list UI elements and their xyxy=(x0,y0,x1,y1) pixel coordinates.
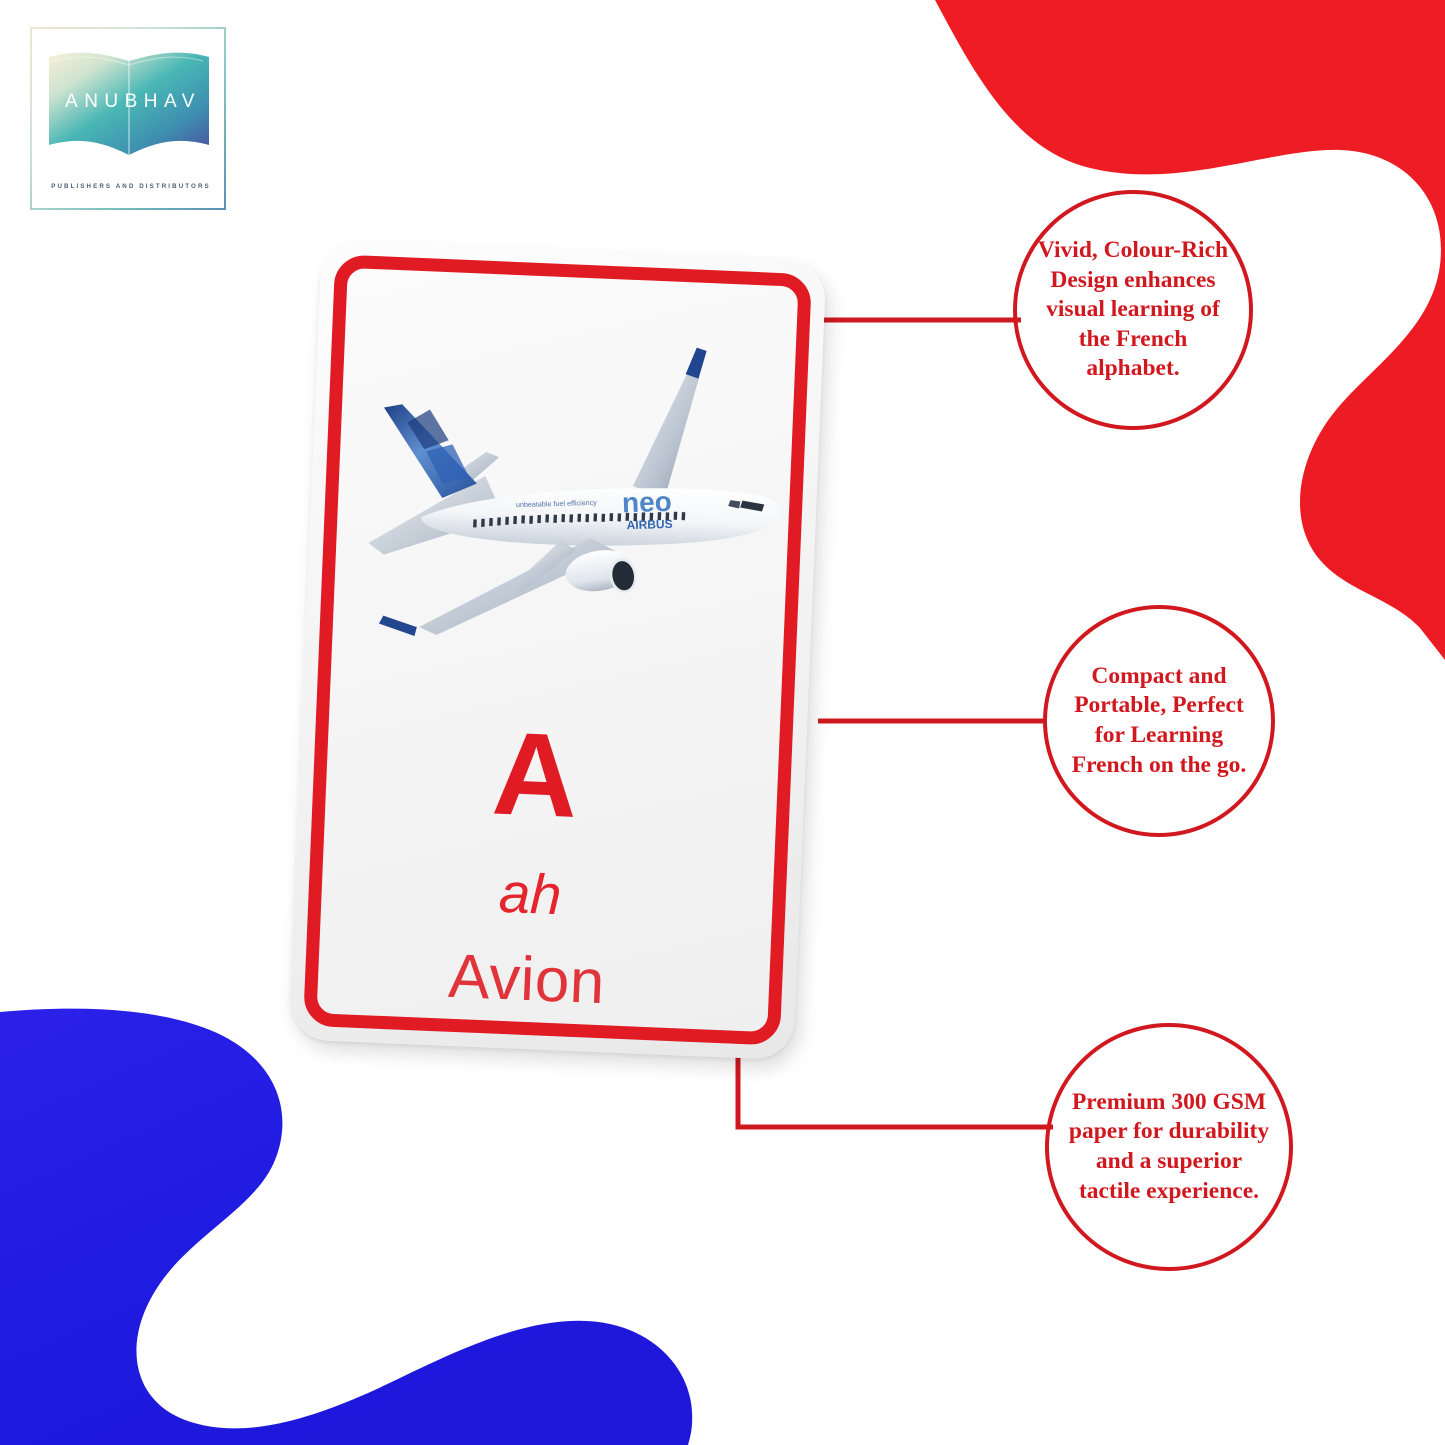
livery-neo-mark: neo xyxy=(622,486,673,518)
callout-compact-portable-text: Compact and Portable, Perfect for Learni… xyxy=(1047,662,1271,780)
callout-premium-paper: Premium 300 GSM paper for durability and… xyxy=(1045,1023,1293,1271)
brand-logo: ANUBHAV PUBLISHERS AND DISTRIBUTORS xyxy=(30,27,226,210)
callout-compact-portable: Compact and Portable, Perfect for Learni… xyxy=(1043,605,1275,837)
svg-text:AIRBUS: AIRBUS xyxy=(626,517,672,532)
airplane-illustration: unbeatable fuel efficiency neo AIRBUS xyxy=(358,329,791,666)
promo-graphic: ANUBHAV PUBLISHERS AND DISTRIBUTORS xyxy=(0,0,1445,1445)
callout-premium-paper-text: Premium 300 GSM paper for durability and… xyxy=(1049,1088,1289,1206)
logo-wordmark: ANUBHAV xyxy=(32,91,228,113)
logo-tagline: PUBLISHERS AND DISTRIBUTORS xyxy=(32,183,228,190)
blue-blob xyxy=(0,1009,692,1445)
flashcard-face: unbeatable fuel efficiency neo AIRBUS A … xyxy=(303,254,812,1045)
callout-vivid-design-text: Vivid, Colour-Rich Design enhances visua… xyxy=(1017,236,1249,384)
flashcard-word: Avion xyxy=(317,935,771,1025)
flashcard: unbeatable fuel efficiency neo AIRBUS A … xyxy=(288,240,826,1060)
flashcard-letter: A xyxy=(324,707,780,844)
flashcard-pronunciation: ah xyxy=(321,852,774,936)
callout-vivid-design: Vivid, Colour-Rich Design enhances visua… xyxy=(1013,190,1253,430)
